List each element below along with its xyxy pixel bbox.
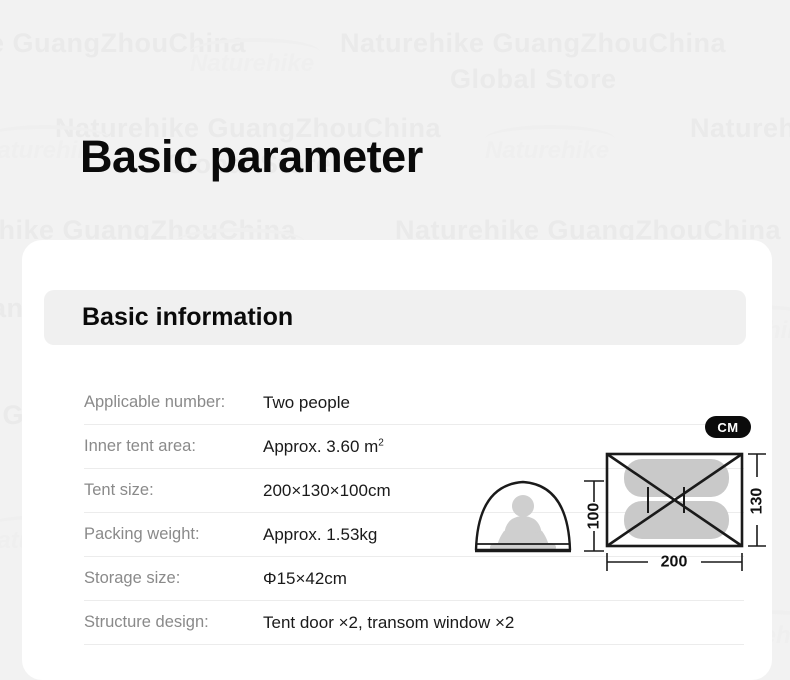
spec-value: Two people bbox=[263, 393, 350, 413]
spec-label: Packing weight: bbox=[84, 525, 263, 544]
spec-value: 200×130×100cm bbox=[263, 481, 391, 501]
section-header-title: Basic information bbox=[82, 303, 293, 332]
dimension-depth-label: 130 bbox=[749, 488, 766, 515]
spec-value-text: Approx. 3.60 m bbox=[263, 437, 378, 456]
unit-badge-cm: CM bbox=[705, 416, 751, 438]
spec-value-superscript: 2 bbox=[378, 437, 384, 448]
watermark-logo: Naturehike bbox=[485, 125, 615, 165]
basic-parameter-card: Basic information Applicable number: Two… bbox=[22, 240, 772, 680]
table-row: Structure design: Tent door ×2, transom … bbox=[84, 601, 744, 645]
watermark-text: Naturehike GuangZhouChina bbox=[0, 28, 246, 59]
watermark-logo-text: Naturehike bbox=[485, 137, 609, 164]
page-title: Basic parameter bbox=[80, 131, 423, 183]
dimension-width-label: 200 bbox=[661, 554, 688, 571]
watermark-text: Naturehike GuangZhouChina bbox=[690, 113, 790, 144]
spec-value: Tent door ×2, transom window ×2 bbox=[263, 613, 514, 633]
spec-label: Inner tent area: bbox=[84, 437, 263, 456]
spec-label: Structure design: bbox=[84, 613, 263, 632]
table-row: Applicable number: Two people bbox=[84, 381, 744, 425]
spec-label: Tent size: bbox=[84, 481, 263, 500]
spec-value: Approx. 1.53kg bbox=[263, 525, 377, 545]
spec-value: Φ15×42cm bbox=[263, 569, 347, 589]
spec-value: Approx. 3.60 m2 bbox=[263, 437, 384, 457]
dimension-height-label: 100 bbox=[586, 503, 603, 530]
tent-side-view bbox=[475, 482, 571, 552]
tent-diagram: 100 bbox=[452, 445, 772, 590]
watermark-logo-text: Naturehike bbox=[190, 50, 314, 77]
spec-label: Storage size: bbox=[84, 569, 263, 588]
watermark-logo: Naturehike bbox=[190, 38, 320, 78]
watermark-text: Naturehike GuangZhouChina bbox=[340, 28, 726, 59]
section-header: Basic information bbox=[44, 290, 746, 345]
watermark-text: Global Store bbox=[450, 64, 617, 95]
spec-label: Applicable number: bbox=[84, 393, 263, 412]
tent-floor-plan bbox=[607, 454, 742, 546]
